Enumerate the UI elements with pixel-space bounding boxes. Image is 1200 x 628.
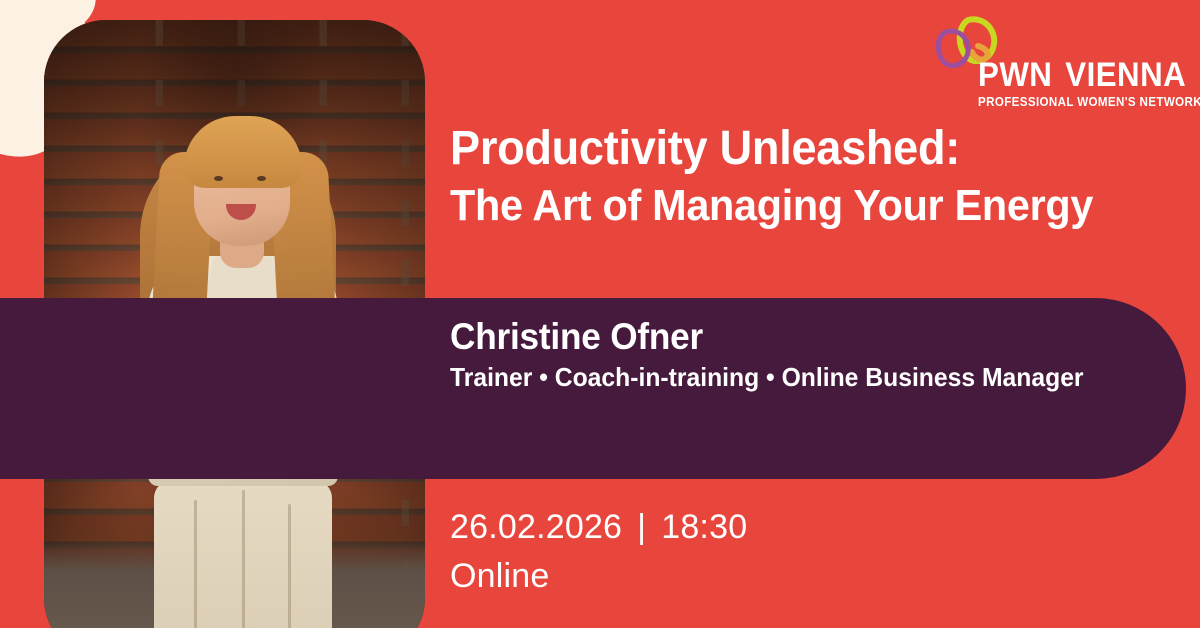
pwn-vienna-logo[interactable]: PWN VIENNA PROFESSIONAL WOMEN'S NETWORK xyxy=(918,14,1186,110)
event-title-line2: The Art of Managing Your Energy xyxy=(450,183,1146,230)
eye-right xyxy=(257,176,266,181)
event-time: 18:30 xyxy=(661,505,747,550)
logo-primary-text: PWN xyxy=(978,60,1052,92)
fabric-fold xyxy=(194,500,197,628)
hair-top xyxy=(184,116,302,188)
datetime-separator: | xyxy=(622,505,661,550)
fabric-fold xyxy=(288,504,291,628)
speaker-info: Christine Ofner Trainer • Coach-in-train… xyxy=(450,316,1150,395)
speaker-name: Christine Ofner xyxy=(450,316,1115,357)
event-date: 26.02.2026 xyxy=(450,505,622,550)
event-title: Productivity Unleashed: The Art of Manag… xyxy=(450,124,1190,230)
logo-secondary-text: VIENNA xyxy=(1065,60,1186,92)
event-title-line1: Productivity Unleashed: xyxy=(450,124,1146,175)
logo-tagline: PROFESSIONAL WOMEN'S NETWORK xyxy=(978,95,1168,109)
event-location: Online xyxy=(450,554,747,599)
fabric-fold xyxy=(242,490,245,628)
event-promo-card: PWN VIENNA PROFESSIONAL WOMEN'S NETWORK … xyxy=(0,0,1200,628)
logo-wordmark: PWN VIENNA PROFESSIONAL WOMEN'S NETWORK xyxy=(978,60,1184,109)
speaker-role: Trainer • Coach-in-training • Online Bus… xyxy=(450,360,1115,394)
event-meta: 26.02.2026 | 18:30 Online xyxy=(450,505,747,599)
petal-shape xyxy=(0,0,29,116)
event-datetime: 26.02.2026 | 18:30 xyxy=(450,505,747,550)
trousers xyxy=(154,480,332,628)
eye-left xyxy=(214,176,223,181)
